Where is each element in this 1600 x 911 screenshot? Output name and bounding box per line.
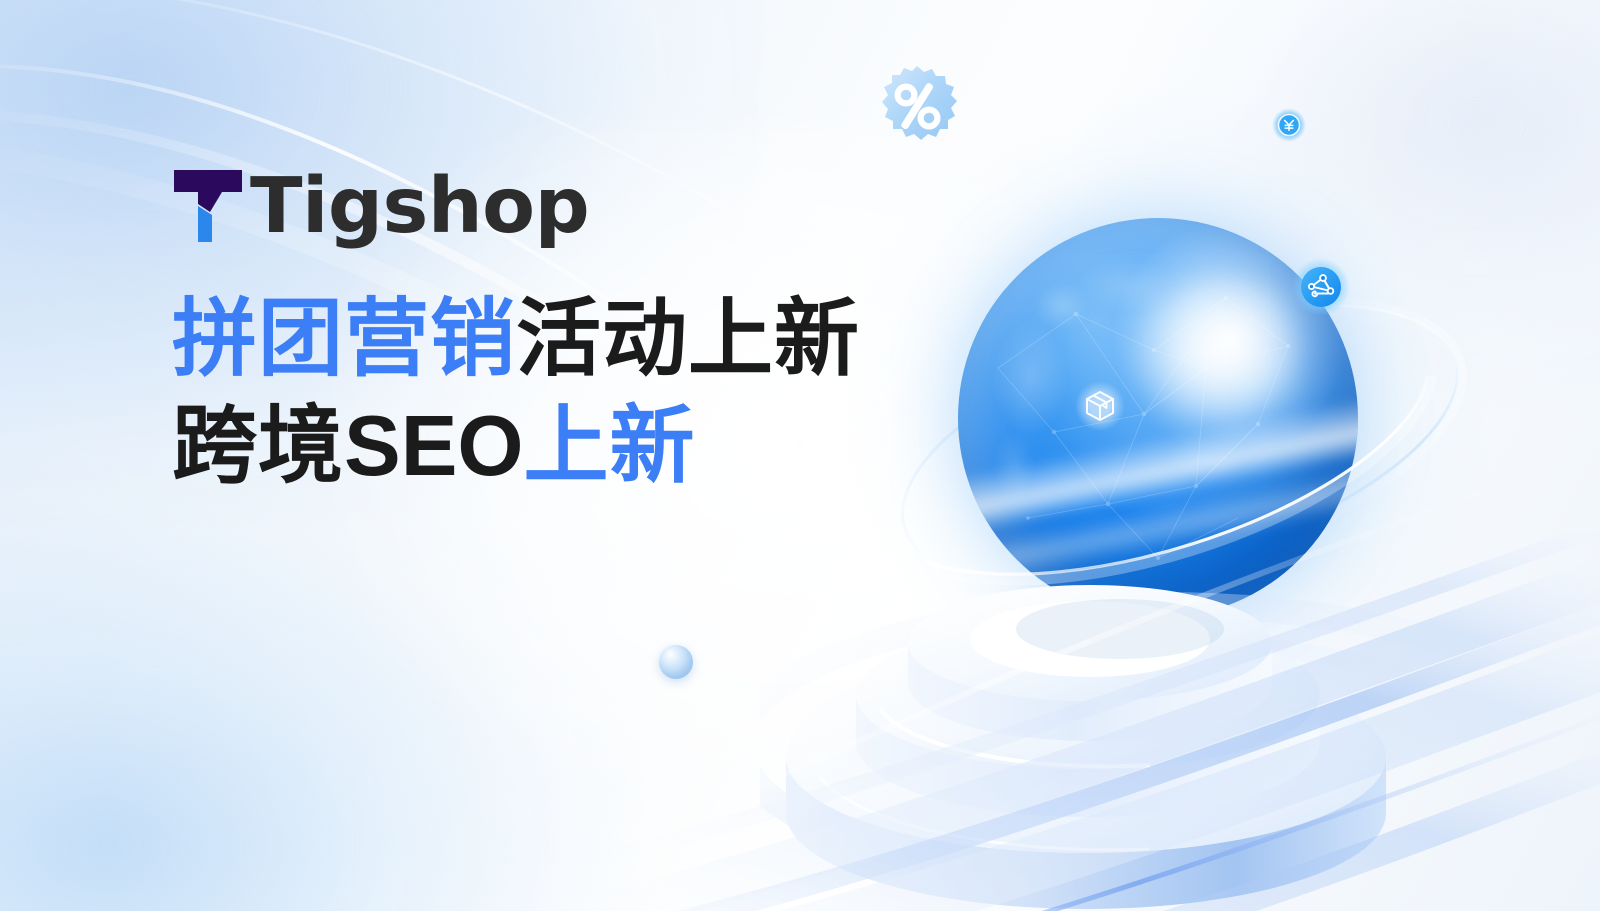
yen-coin-icon	[1272, 108, 1306, 142]
brand-logo[interactable]: Tigshop	[172, 160, 992, 252]
headline-primary-segment-dark: 活动上新	[516, 290, 860, 389]
headline-secondary-segment-dark: 跨境	[172, 397, 344, 496]
globe-highlight	[1126, 266, 1310, 434]
tigshop-t-mark-icon	[172, 166, 248, 246]
percent-badge-icon	[869, 58, 965, 154]
headline-primary: 拼团营销活动上新	[172, 286, 992, 393]
content-block: Tigshop 拼团营销活动上新 跨境SEO上新	[172, 160, 992, 500]
headline-secondary: 跨境SEO上新	[172, 393, 992, 500]
package-box-icon	[1075, 381, 1125, 431]
headline-primary-segment-blue: 拼团营销	[172, 290, 516, 389]
headline-group: 拼团营销活动上新 跨境SEO上新	[172, 286, 992, 500]
brand-wordmark: Tigshop	[250, 168, 589, 245]
headline-secondary-segment-blue: 上新	[524, 397, 696, 496]
promo-banner: Tigshop 拼团营销活动上新 跨境SEO上新	[0, 0, 1600, 911]
headline-secondary-segment-latin: SEO	[344, 399, 524, 494]
bubble-sphere-icon	[659, 645, 693, 679]
network-share-icon	[1292, 258, 1350, 316]
